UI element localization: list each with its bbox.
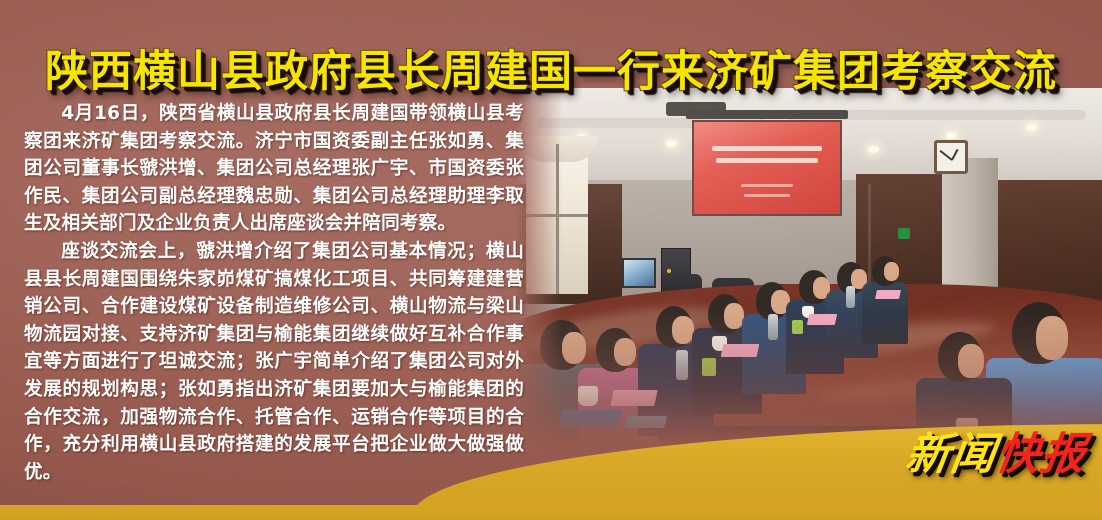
bottom-yellow-band: [0, 505, 1102, 520]
article-paragraph-2: 座谈交流会上，虢洪增介绍了集团公司基本情况；横山县县长周建国围绕朱家峁煤矿搞煤化…: [24, 238, 524, 486]
brand-text-news: 新闻: [902, 429, 999, 480]
brand-watermark: 新闻快报: [902, 430, 1089, 480]
article-body: 4月16日，陕西省横山县政府县长周建国带领横山县考察团来济矿集团考察交流。济宁市…: [24, 100, 524, 486]
page-title: 陕西横山县政府县长周建国一行来济矿集团考察交流: [0, 47, 1102, 97]
brand-text-express: 快报: [992, 429, 1089, 480]
article-paragraph-1: 4月16日，陕西省横山县政府县长周建国带领横山县考察团来济矿集团考察交流。济宁市…: [24, 100, 524, 238]
news-banner: 陕西横山县政府县长周建国一行来济矿集团考察交流 4月16日，陕西省横山县政府县长…: [0, 0, 1102, 520]
